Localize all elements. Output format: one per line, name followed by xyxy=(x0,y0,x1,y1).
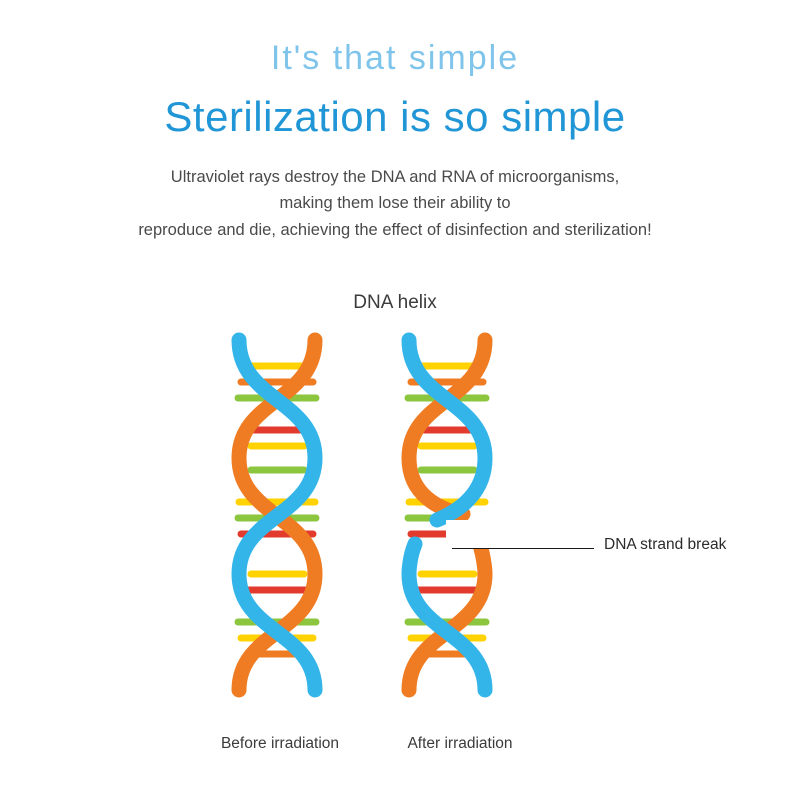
helix-intact-svg xyxy=(205,330,355,710)
subcopy-line-1: Ultraviolet rays destroy the DNA and RNA… xyxy=(0,164,790,191)
caption-after-irradiation: After irradiation xyxy=(360,735,560,753)
subcopy-line-2: making them lose their ability to xyxy=(0,190,790,217)
subcopy-block: Ultraviolet rays destroy the DNA and RNA… xyxy=(0,164,790,244)
diagram-title: DNA helix xyxy=(0,292,790,314)
eyebrow-text: It's that simple xyxy=(0,40,790,77)
annotation-leader-line xyxy=(452,548,594,549)
header-block: It's that simple Sterilization is so sim… xyxy=(0,0,790,244)
poster-page: It's that simple Sterilization is so sim… xyxy=(0,0,790,800)
helix-area xyxy=(0,330,790,710)
annotation-label: DNA strand break xyxy=(604,536,726,554)
caption-before-irradiation: Before irradiation xyxy=(180,735,380,753)
dna-diagram: DNA helix xyxy=(0,292,790,752)
subcopy-line-3: reproduce and die, achieving the effect … xyxy=(0,217,790,244)
strand-break-gap xyxy=(446,520,556,548)
helix-before-irradiation xyxy=(205,330,355,715)
page-title: Sterilization is so simple xyxy=(0,93,790,141)
